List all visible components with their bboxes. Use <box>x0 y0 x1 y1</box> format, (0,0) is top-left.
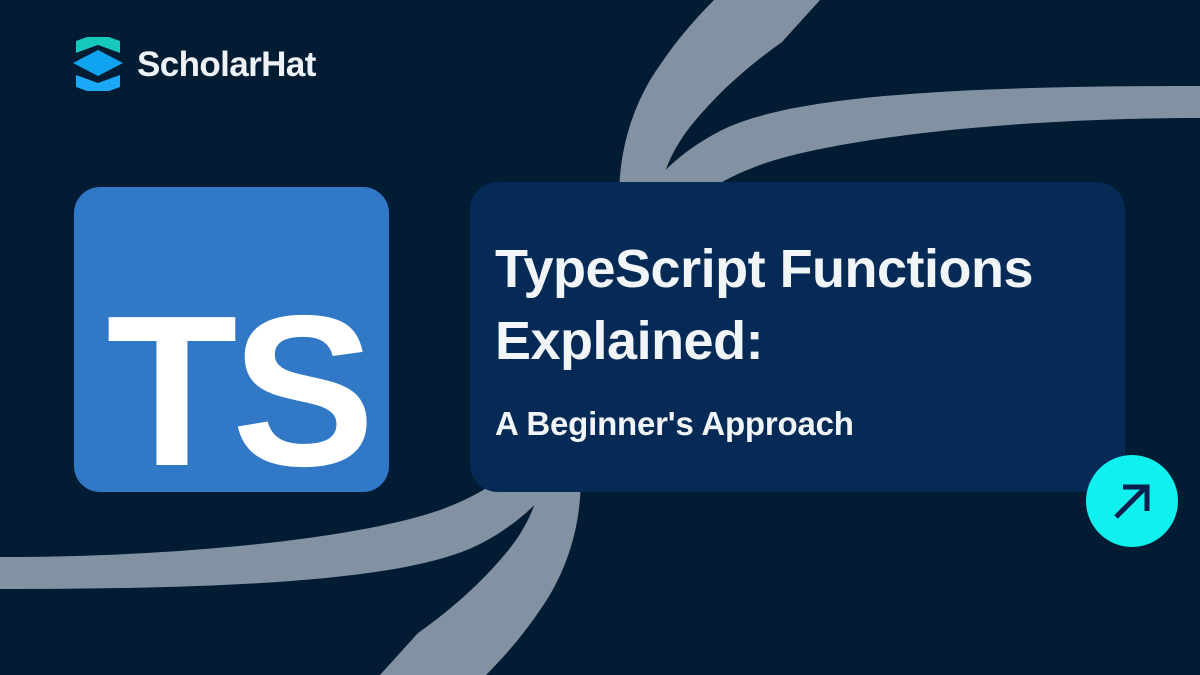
typescript-logo: TS <box>74 187 389 492</box>
brand-logo[interactable]: ScholarHat <box>72 36 316 92</box>
page-title: TypeScript Functions Explained: <box>495 234 1101 378</box>
stacked-layers-icon <box>72 37 124 91</box>
typescript-logo-label: TS <box>106 283 369 492</box>
title-card: TypeScript Functions Explained: A Beginn… <box>470 182 1125 492</box>
thumbnail-canvas: ScholarHat TS TypeScript Functions Expla… <box>0 0 1200 675</box>
page-subtitle: A Beginner's Approach <box>495 404 1101 444</box>
brand-name: ScholarHat <box>137 47 316 82</box>
arrow-up-right-badge[interactable] <box>1086 455 1178 547</box>
title-card-content: TypeScript Functions Explained: A Beginn… <box>495 234 1101 443</box>
arrow-up-right-icon <box>1109 478 1155 524</box>
